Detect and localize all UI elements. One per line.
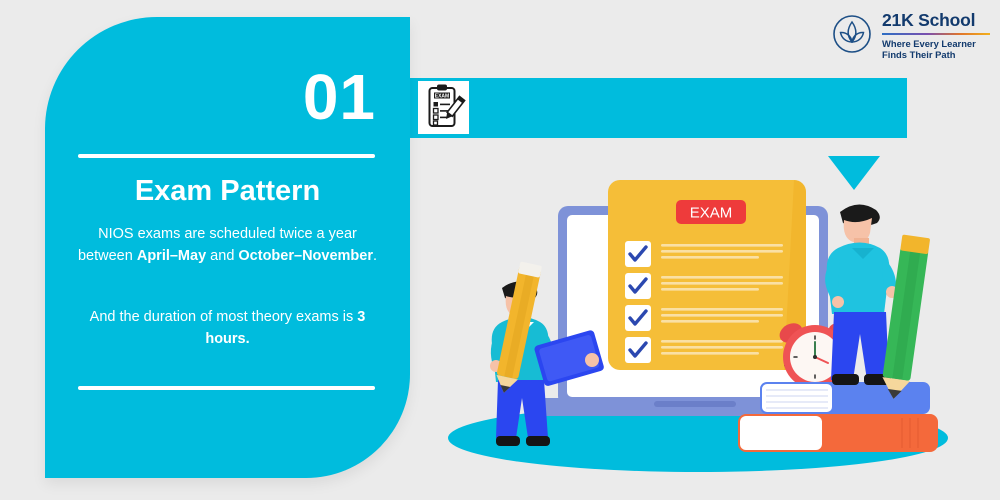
brand-logo[interactable]: 21K School Where Every Learner Finds The… bbox=[832, 12, 990, 56]
svg-text:EXAM: EXAM bbox=[435, 94, 449, 100]
divider-bottom bbox=[78, 386, 375, 390]
brand-tagline-line2: Finds Their Path bbox=[882, 49, 992, 60]
brand-tagline: Where Every Learner Finds Their Path bbox=[882, 38, 992, 61]
brand-text: 21K School Where Every Learner Finds The… bbox=[882, 12, 992, 61]
student-with-green-pencil bbox=[825, 204, 930, 400]
paragraph1-bold2: October–November bbox=[238, 248, 373, 264]
exam-badge-label: EXAM bbox=[690, 205, 733, 222]
banner-strip bbox=[400, 78, 907, 138]
brand-underline bbox=[882, 33, 990, 36]
exam-clipboard-icon: EXAM bbox=[418, 81, 469, 134]
orange-book bbox=[738, 414, 938, 452]
exam-illustration: EXAM bbox=[440, 170, 980, 480]
paragraph1-bold1: April–May bbox=[137, 248, 206, 264]
card-paragraph-1: NIOS exams are scheduled twice a year be… bbox=[69, 223, 386, 268]
exam-sheet: EXAM bbox=[608, 180, 806, 370]
card-paragraph-2: And the duration of most theory exams is… bbox=[69, 306, 386, 351]
brand-tagline-line1: Where Every Learner bbox=[882, 38, 992, 49]
card-number: 01 bbox=[303, 65, 376, 129]
paragraph1-part2: and bbox=[206, 248, 238, 264]
exam-pattern-card: 01 Exam Pattern NIOS exams are scheduled… bbox=[45, 17, 410, 478]
page-title: Exam Pattern bbox=[45, 175, 410, 208]
paragraph1-part3: . bbox=[373, 248, 377, 264]
lotus-circle-logo-icon bbox=[832, 14, 872, 54]
brand-name: 21K School bbox=[882, 12, 992, 30]
infographic-canvas: EXAM 01 Exam Pattern NIOS exams are sche… bbox=[0, 0, 1000, 500]
paragraph2-part1: And the duration of most theory exams is bbox=[90, 309, 358, 325]
divider-top bbox=[78, 154, 375, 158]
